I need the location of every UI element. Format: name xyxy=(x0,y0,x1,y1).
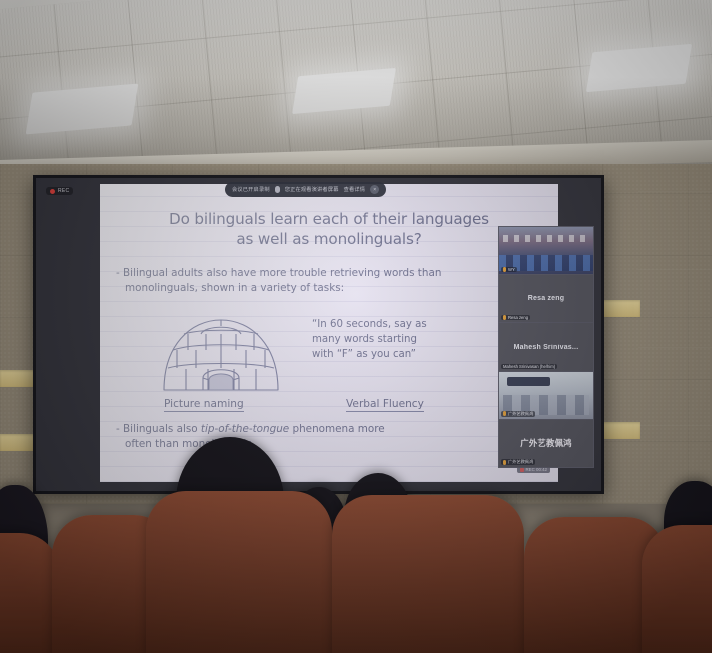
slide-task-row: “In 60 seconds, say as many words starti… xyxy=(116,312,542,417)
recording-label: REC xyxy=(58,188,69,194)
participant-display-name-2: Resa zeng xyxy=(499,295,593,302)
bullet-2-italic-term: tip-of-the-tongue xyxy=(201,423,289,435)
meeting-notification-bar[interactable]: 会议已开启录制 您正在观看演讲者屏幕 查看详情 × xyxy=(225,182,386,197)
notification-text-right[interactable]: 查看详情 xyxy=(344,186,366,193)
quote-line-3: with “F” as you can” xyxy=(312,348,512,363)
notification-text-middle: 您正在观看演讲者屏幕 xyxy=(285,186,339,193)
slide-title-line-2: as well as monolinguals? xyxy=(114,230,544,250)
slide-bullet-1: - Bilingual adults also have more troubl… xyxy=(116,266,540,296)
igloo-illustration xyxy=(158,312,284,394)
participant-name-text-4: 广外艺教佩鸿 xyxy=(508,411,533,417)
participant-name-badge-1: WY xyxy=(501,267,517,272)
participant-name-text-3: Mahesh Srinivasan (he/him) xyxy=(503,364,555,369)
verbal-fluency-prompt: “In 60 seconds, say as many words starti… xyxy=(312,318,512,362)
bullet-2-post: phenomena more xyxy=(289,423,385,435)
auditorium-chair-5 xyxy=(0,533,60,653)
caption-picture-naming: Picture naming xyxy=(164,398,244,412)
participant-name-badge-3: Mahesh Srinivasan (he/him) xyxy=(501,364,557,369)
slide-title-line-1: Do bilinguals learn each of their langua… xyxy=(114,210,544,230)
participant-tile-4[interactable]: 广外艺教佩鸿 xyxy=(499,372,593,420)
quote-line-2: many words starting xyxy=(312,333,512,348)
participant-display-name-5: 广外艺教佩鸿 xyxy=(499,437,593,449)
participant-tile-2[interactable]: Resa zeng Resa zeng xyxy=(499,275,593,323)
lecture-hall-scene: REC Do bilinguals learn each of their la… xyxy=(0,0,712,653)
mic-icon xyxy=(503,460,506,465)
participant-tile-5[interactable]: 广外艺教佩鸿 广外艺教佩鸿 xyxy=(499,420,593,467)
mic-icon xyxy=(503,315,506,320)
participant-name-text-5: 广外艺教佩鸿 xyxy=(508,459,533,465)
record-dot-icon xyxy=(50,189,55,194)
notification-text-left: 会议已开启录制 xyxy=(232,186,270,193)
participant-name-badge-5: 广外艺教佩鸿 xyxy=(501,459,535,465)
wall-accent-stripe-left-1 xyxy=(0,370,34,387)
bullet-1-line-2: monolinguals, shown in a variety of task… xyxy=(116,281,540,296)
bullet-1-line-1: - Bilingual adults also have more troubl… xyxy=(116,267,441,279)
auditorium-chair-6 xyxy=(642,525,712,653)
participant-name-badge-2: Resa zeng xyxy=(501,315,530,320)
auditorium-chair-2 xyxy=(146,491,332,653)
participant-tile-3[interactable]: Mahesh Srinivas... Mahesh Srinivasan (he… xyxy=(499,323,593,371)
quote-line-1: “In 60 seconds, say as xyxy=(312,318,512,333)
participant-name-badge-4: 广外艺教佩鸿 xyxy=(501,411,535,417)
igloo-icon xyxy=(158,312,284,394)
microphone-icon xyxy=(275,186,280,193)
recording-indicator: REC xyxy=(46,187,73,195)
caption-verbal-fluency: Verbal Fluency xyxy=(346,398,424,412)
bullet-2-pre: - Bilinguals also xyxy=(116,423,201,435)
auditorium-chair-3 xyxy=(332,495,524,653)
participant-tile-1[interactable]: WY xyxy=(499,227,593,275)
slide-title: Do bilinguals learn each of their langua… xyxy=(114,210,544,250)
audience-seating xyxy=(0,438,712,653)
participant-display-name-3: Mahesh Srinivas... xyxy=(499,344,593,351)
mic-icon xyxy=(503,411,506,416)
ceiling xyxy=(0,0,712,172)
mic-icon xyxy=(503,267,506,272)
participant-name-text-1: WY xyxy=(508,267,515,272)
close-icon[interactable]: × xyxy=(370,185,379,194)
participant-video-panel[interactable]: WY Resa zeng Resa zeng Mahesh Srinivas..… xyxy=(498,226,594,468)
participant-name-text-2: Resa zeng xyxy=(508,315,528,320)
